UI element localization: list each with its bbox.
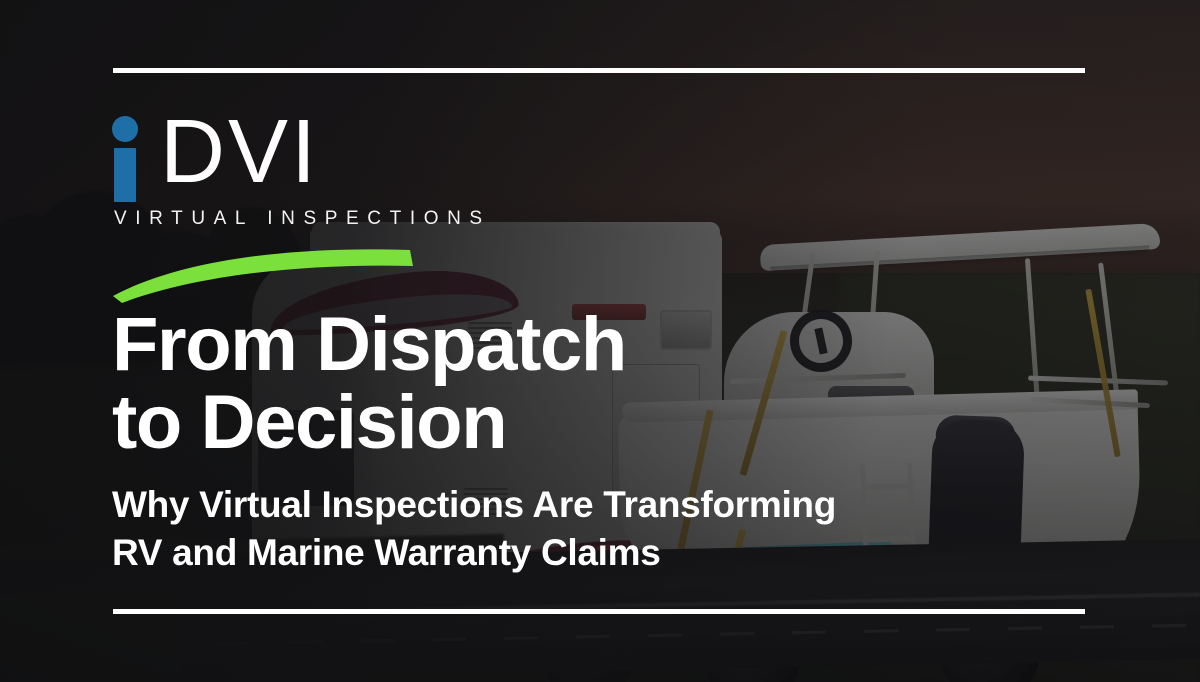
logo-i-dot [112, 116, 138, 142]
idvi-logo: DVI VIRTUAL INSPECTIONS [112, 112, 532, 204]
headline-line-1: From Dispatch [112, 302, 626, 387]
headline: From Dispatch to Decision [112, 306, 872, 462]
subheadline-line-2: RV and Marine Warranty Claims [112, 529, 1012, 577]
headline-line-2: to Decision [112, 384, 872, 462]
green-swoosh-icon [110, 244, 420, 304]
bottom-divider-rule [113, 609, 1085, 614]
logo-tagline: VIRTUAL INSPECTIONS [114, 208, 491, 230]
hero-banner: DVI VIRTUAL INSPECTIONS From Dispatch to… [0, 0, 1200, 682]
banner-content: DVI VIRTUAL INSPECTIONS From Dispatch to… [0, 0, 1200, 682]
logo-wordmark: DVI [160, 104, 319, 200]
logo-wordmark-row: DVI [112, 112, 532, 204]
logo-i-stem [114, 148, 136, 202]
top-divider-rule [113, 68, 1085, 73]
subheadline: Why Virtual Inspections Are Transforming… [112, 481, 1012, 577]
subheadline-line-1: Why Virtual Inspections Are Transforming [112, 484, 836, 525]
logo-i-letter-icon [112, 112, 138, 202]
